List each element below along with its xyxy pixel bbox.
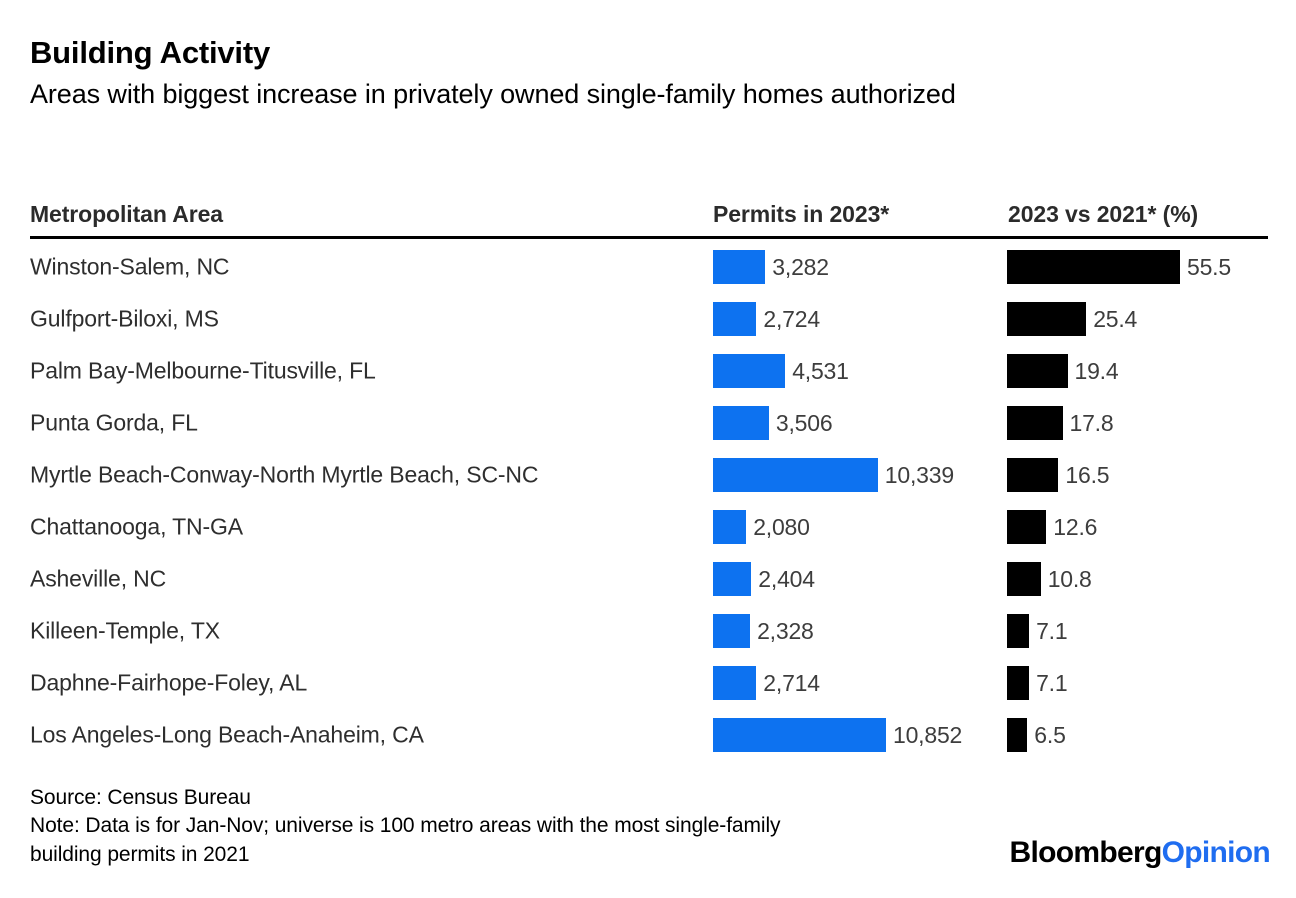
percent-change-bar	[1007, 614, 1029, 648]
percent-change-value-label: 16.5	[1065, 464, 1109, 487]
permits-value-label: 3,282	[772, 256, 829, 279]
percent-change-value-label: 7.1	[1036, 672, 1067, 695]
percent-change-bar-group: 7.1	[1007, 614, 1067, 648]
percent-change-bar	[1007, 250, 1180, 284]
permits-bar-group: 10,339	[713, 458, 954, 492]
permits-bar	[713, 562, 751, 596]
table-row: Los Angeles-Long Beach-Anaheim, CA10,852…	[30, 709, 1268, 761]
permits-value-label: 2,714	[763, 672, 820, 695]
column-header-metro: Metropolitan Area	[30, 201, 223, 228]
permits-value-label: 2,724	[763, 308, 820, 331]
metro-area-label: Killeen-Temple, TX	[30, 618, 220, 645]
percent-change-bar-group: 19.4	[1007, 354, 1118, 388]
permits-value-label: 4,531	[792, 360, 849, 383]
permits-bar	[713, 250, 765, 284]
percent-change-bar	[1007, 406, 1063, 440]
metro-area-label: Gulfport-Biloxi, MS	[30, 306, 219, 333]
percent-change-bar	[1007, 562, 1041, 596]
table-row: Asheville, NC2,40410.8	[30, 553, 1268, 605]
metro-area-label: Chattanooga, TN-GA	[30, 514, 243, 541]
percent-change-value-label: 17.8	[1070, 412, 1114, 435]
percent-change-value-label: 12.6	[1053, 516, 1097, 539]
percent-change-bar-group: 12.6	[1007, 510, 1097, 544]
permits-bar-group: 2,080	[713, 510, 810, 544]
percent-change-value-label: 7.1	[1036, 620, 1067, 643]
permits-bar	[713, 406, 769, 440]
permits-bar-group: 3,506	[713, 406, 832, 440]
percent-change-bar	[1007, 458, 1058, 492]
source-line: Source: Census Bureau	[30, 784, 1020, 812]
column-header-permits: Permits in 2023*	[713, 201, 889, 228]
percent-change-bar	[1007, 666, 1029, 700]
percent-change-bar	[1007, 302, 1086, 336]
chart-header: Building Activity Areas with biggest inc…	[30, 36, 1150, 112]
metro-area-label: Asheville, NC	[30, 566, 166, 593]
percent-change-bar	[1007, 510, 1046, 544]
logo-bloomberg-text: Bloomberg	[1010, 836, 1162, 869]
percent-change-bar-group: 16.5	[1007, 458, 1109, 492]
permits-bar	[713, 458, 878, 492]
permits-value-label: 10,852	[893, 724, 962, 747]
permits-bar-group: 2,714	[713, 666, 820, 700]
table-row: Daphne-Fairhope-Foley, AL2,7147.1	[30, 657, 1268, 709]
permits-bar	[713, 718, 886, 752]
permits-value-label: 2,080	[753, 516, 810, 539]
table-body: Winston-Salem, NC3,28255.5Gulfport-Bilox…	[30, 241, 1268, 761]
permits-bar-group: 2,404	[713, 562, 815, 596]
table-header-row: Metropolitan Area Permits in 2023* 2023 …	[30, 189, 1268, 236]
permits-bar-group: 10,852	[713, 718, 962, 752]
percent-change-bar-group: 7.1	[1007, 666, 1067, 700]
percent-change-value-label: 6.5	[1034, 724, 1065, 747]
permits-bar	[713, 302, 756, 336]
note-line-two: building permits in 2021	[30, 841, 1020, 869]
footnotes: Source: Census Bureau Note: Data is for …	[30, 784, 1020, 869]
permits-bar-group: 2,724	[713, 302, 820, 336]
metro-area-label: Winston-Salem, NC	[30, 254, 229, 281]
column-header-percent: 2023 vs 2021* (%)	[1008, 201, 1198, 228]
permits-bar-group: 3,282	[713, 250, 829, 284]
table-row: Gulfport-Biloxi, MS2,72425.4	[30, 293, 1268, 345]
percent-change-bar-group: 6.5	[1007, 718, 1066, 752]
metro-area-label: Punta Gorda, FL	[30, 410, 198, 437]
page-subtitle: Areas with biggest increase in privately…	[30, 77, 1110, 112]
percent-change-bar-group: 17.8	[1007, 406, 1113, 440]
table-row: Winston-Salem, NC3,28255.5	[30, 241, 1268, 293]
table-row: Palm Bay-Melbourne-Titusville, FL4,53119…	[30, 345, 1268, 397]
percent-change-bar-group: 55.5	[1007, 250, 1231, 284]
permits-value-label: 10,339	[885, 464, 954, 487]
percent-change-bar-group: 10.8	[1007, 562, 1092, 596]
table-row: Chattanooga, TN-GA2,08012.6	[30, 501, 1268, 553]
permits-bar	[713, 614, 750, 648]
permits-bar-group: 2,328	[713, 614, 814, 648]
table-row: Punta Gorda, FL3,50617.8	[30, 397, 1268, 449]
data-table: Metropolitan Area Permits in 2023* 2023 …	[30, 189, 1268, 236]
permits-bar	[713, 354, 785, 388]
note-line-one: Note: Data is for Jan-Nov; universe is 1…	[30, 812, 1020, 840]
permits-value-label: 2,328	[757, 620, 814, 643]
table-row: Myrtle Beach-Conway-North Myrtle Beach, …	[30, 449, 1268, 501]
bloomberg-opinion-logo: BloombergOpinion	[1010, 836, 1270, 870]
metro-area-label: Los Angeles-Long Beach-Anaheim, CA	[30, 722, 424, 749]
logo-opinion-text: Opinion	[1162, 836, 1270, 869]
percent-change-value-label: 10.8	[1048, 568, 1092, 591]
permits-bar	[713, 666, 756, 700]
permits-bar	[713, 510, 746, 544]
chart-page: Building Activity Areas with biggest inc…	[0, 0, 1296, 898]
header-divider	[30, 236, 1268, 239]
permits-bar-group: 4,531	[713, 354, 849, 388]
metro-area-label: Daphne-Fairhope-Foley, AL	[30, 670, 307, 697]
permits-value-label: 2,404	[758, 568, 815, 591]
metro-area-label: Palm Bay-Melbourne-Titusville, FL	[30, 358, 376, 385]
permits-value-label: 3,506	[776, 412, 833, 435]
table-row: Killeen-Temple, TX2,3287.1	[30, 605, 1268, 657]
percent-change-value-label: 55.5	[1187, 256, 1231, 279]
percent-change-bar-group: 25.4	[1007, 302, 1137, 336]
page-title: Building Activity	[30, 36, 1150, 70]
percent-change-value-label: 25.4	[1093, 308, 1137, 331]
percent-change-bar	[1007, 354, 1068, 388]
percent-change-value-label: 19.4	[1075, 360, 1119, 383]
metro-area-label: Myrtle Beach-Conway-North Myrtle Beach, …	[30, 462, 538, 489]
percent-change-bar	[1007, 718, 1027, 752]
